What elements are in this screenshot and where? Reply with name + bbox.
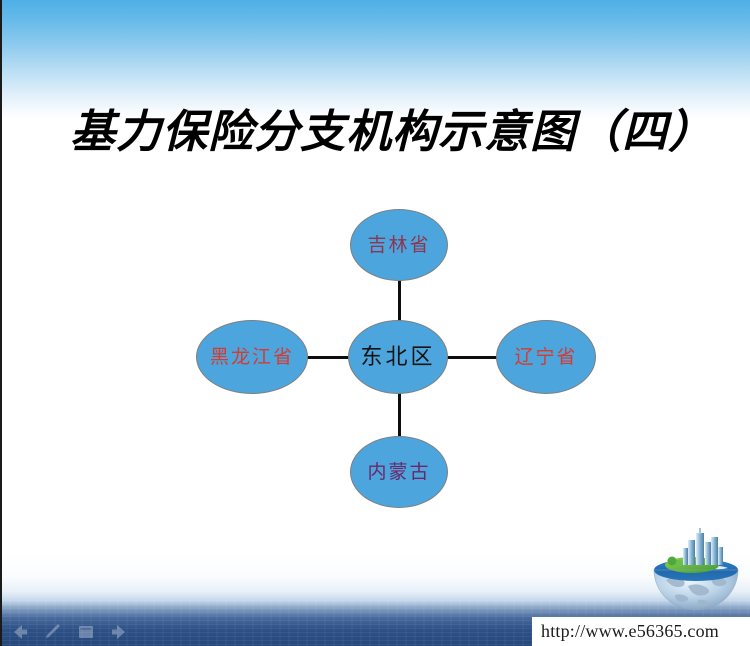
node-heilongjiang-label: 黑龙江省 xyxy=(210,348,294,367)
center-node-label: 东北区 xyxy=(360,346,435,368)
previous-slide-icon[interactable] xyxy=(10,623,30,641)
node-liaoning[interactable]: 辽宁省 xyxy=(496,320,596,394)
presentation-slide: 基力保险分支机构示意图（四） 吉林省 黑龙江省 东北区 辽宁省 内蒙古 xyxy=(0,0,750,646)
node-neimenggu[interactable]: 内蒙古 xyxy=(350,436,448,508)
node-jilin[interactable]: 吉林省 xyxy=(350,209,448,281)
pen-tool-icon[interactable] xyxy=(43,623,63,641)
connector-center-to-top xyxy=(398,278,401,326)
center-node[interactable]: 东北区 xyxy=(348,320,448,394)
connector-center-to-left xyxy=(302,356,354,359)
node-neimenggu-label: 内蒙古 xyxy=(367,463,430,482)
node-heilongjiang[interactable]: 黑龙江省 xyxy=(196,320,308,394)
watermark-url-text: http://www.e56365.com xyxy=(532,621,719,642)
connector-center-to-bottom xyxy=(398,388,401,438)
node-liaoning-label: 辽宁省 xyxy=(514,348,577,367)
org-structure-diagram: 吉林省 黑龙江省 东北区 辽宁省 内蒙古 xyxy=(0,0,750,646)
next-slide-icon[interactable] xyxy=(109,623,129,641)
node-jilin-label: 吉林省 xyxy=(367,236,430,255)
connector-center-to-right xyxy=(444,356,498,359)
earth-city-globe-logo xyxy=(648,528,744,618)
presenter-toolbar[interactable] xyxy=(10,621,129,643)
slide-menu-icon[interactable] xyxy=(76,623,96,641)
watermark-url-band: http://www.e56365.com xyxy=(532,617,750,646)
